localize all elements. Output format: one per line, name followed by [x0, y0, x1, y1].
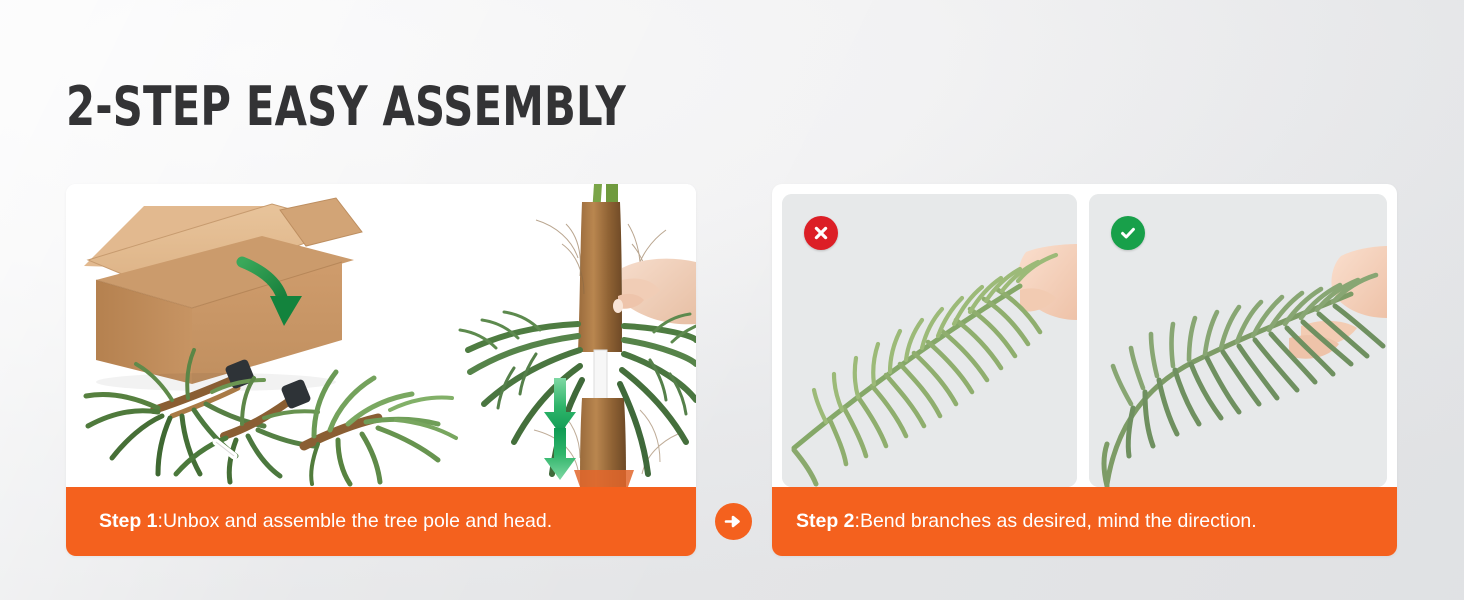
step-2-photo [772, 184, 1397, 487]
step-2-text: Bend branches as desired, mind the direc… [860, 510, 1257, 533]
cross-icon [813, 225, 829, 241]
cross-badge [804, 216, 838, 250]
check-icon [1119, 224, 1137, 242]
step-connector [715, 503, 752, 540]
step-1-illustration [66, 184, 696, 487]
step-2-caption: Step 2: Bend branches as desired, mind t… [772, 487, 1397, 556]
arrow-right-icon [724, 512, 743, 531]
infographic-canvas: 2-STEP EASY ASSEMBLY [0, 0, 1464, 600]
step-1-caption: Step 1: Unbox and assemble the tree pole… [66, 487, 696, 556]
step-1-card: Step 1: Unbox and assemble the tree pole… [66, 184, 696, 556]
step-1-photo [66, 184, 696, 487]
step-2-variant-wrong [782, 194, 1077, 487]
step-2-label: Step 2 [796, 510, 855, 533]
step-1-text: Unbox and assemble the tree pole and hea… [163, 510, 552, 533]
step-2-variant-correct [1089, 194, 1387, 487]
step-2-card: Step 2: Bend branches as desired, mind t… [772, 184, 1397, 556]
step-1-label: Step 1 [99, 510, 158, 533]
check-badge [1111, 216, 1145, 250]
page-title: 2-STEP EASY ASSEMBLY [66, 80, 626, 134]
